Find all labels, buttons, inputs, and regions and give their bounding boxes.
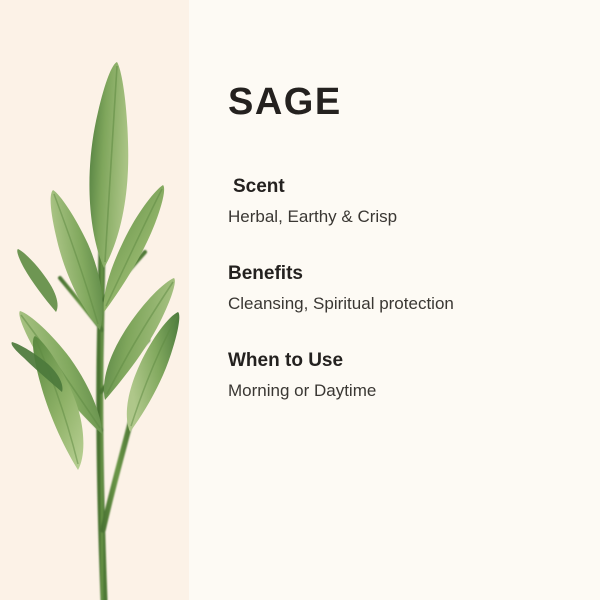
section-body-scent: Herbal, Earthy & Crisp [228,206,582,228]
sage-info-card: SAGE Scent Herbal, Earthy & Crisp Benefi… [0,0,600,600]
leaf-edge-left-small [17,249,57,312]
plant-leaves [12,62,180,470]
page-title: SAGE [228,82,342,124]
illustration-panel [0,0,189,600]
section-heading-benefits: Benefits [228,263,582,286]
section-body-benefits: Cleansing, Spiritual protection [228,293,582,315]
section-body-when-to-use: Morning or Daytime [228,380,582,402]
info-panel: SAGE Scent Herbal, Earthy & Crisp Benefi… [189,0,600,600]
section-heading-scent: Scent [233,176,582,199]
section-when-to-use: When to Use Morning or Daytime [228,350,582,402]
section-scent: Scent Herbal, Earthy & Crisp [228,176,582,228]
detail-sections: Scent Herbal, Earthy & Crisp Benefits Cl… [228,176,582,402]
leaf-top-center [89,62,128,268]
section-benefits: Benefits Cleansing, Spiritual protection [228,263,582,315]
sage-plant-illustration [0,0,189,600]
section-heading-when-to-use: When to Use [228,350,582,373]
